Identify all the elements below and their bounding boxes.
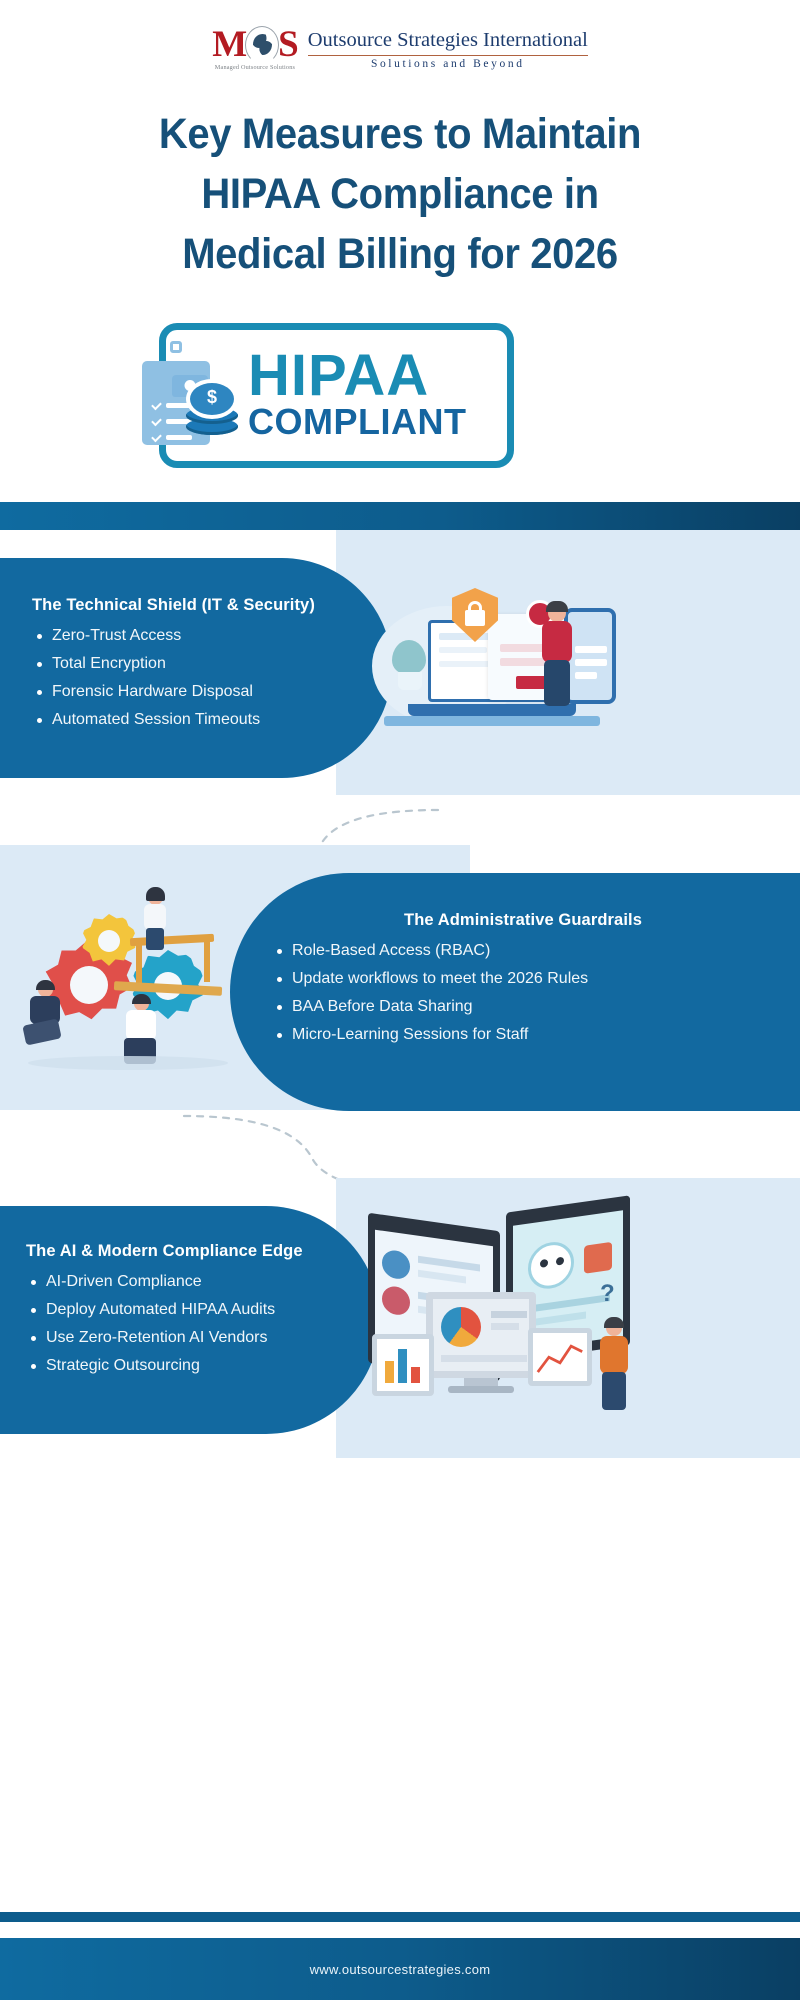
brand-tagline: Solutions and Beyond — [308, 58, 588, 70]
clipboard-ring-icon — [170, 341, 182, 353]
logo-mos-lettermark: M S — [212, 26, 298, 63]
person-legs — [22, 1018, 61, 1045]
person-torso — [600, 1336, 628, 1374]
section-3-panel: The AI & Modern Compliance Edge AI-Drive… — [0, 1206, 380, 1434]
badge-text-block: HIPAA COMPLIANT — [248, 350, 466, 442]
person-legs — [602, 1372, 626, 1410]
badge-word-hipaa: HIPAA — [248, 350, 466, 402]
logo-letter-m: M — [212, 26, 246, 63]
section-2-list: Role-Based Access (RBAC) Update workflow… — [272, 937, 772, 1049]
list-item: Role-Based Access (RBAC) — [272, 937, 772, 965]
page-footer: www.outsourcestrategies.com — [0, 1938, 800, 2000]
clipboard-line — [166, 435, 192, 440]
list-item: Update workflows to meet the 2026 Rules — [272, 965, 772, 993]
person-hair — [146, 887, 165, 901]
person-legs — [146, 928, 164, 950]
section-1-heading: The Technical Shield (IT & Security) — [32, 596, 392, 615]
bar — [398, 1349, 407, 1383]
dollar-coins-icon — [186, 379, 238, 435]
footer-website-url[interactable]: www.outsourcestrategies.com — [310, 1962, 491, 1977]
person-figure — [22, 982, 70, 1044]
person-figure — [138, 888, 172, 948]
list-item: AI-Driven Compliance — [26, 1268, 380, 1296]
bar — [411, 1367, 420, 1383]
list-item: Deploy Automated HIPAA Audits — [26, 1296, 380, 1324]
screen-bar — [491, 1311, 527, 1318]
question-mark-icon: ? — [600, 1280, 615, 1308]
bar — [385, 1361, 394, 1383]
list-item: Total Encryption — [32, 650, 392, 678]
coin-top-dollar — [186, 379, 238, 419]
person-hair — [36, 980, 55, 990]
person-coat — [126, 1010, 156, 1040]
infographic-page: M S Managed Outsource Solutions Outsourc… — [0, 0, 800, 2000]
footer-top-strip — [0, 1912, 800, 1922]
person-figure — [538, 604, 578, 716]
ramp-post — [204, 938, 210, 982]
plant-pot — [398, 672, 422, 690]
page-title-line-2: HIPAA Compliance in — [28, 164, 772, 224]
laptop-tray — [384, 716, 600, 726]
check-icon — [151, 401, 161, 411]
section-2-panel: The Administrative Guardrails Role-Based… — [230, 873, 800, 1111]
section-3-list: AI-Driven Compliance Deploy Automated HI… — [26, 1268, 380, 1380]
brand-logo: M S Managed Outsource Solutions Outsourc… — [0, 26, 800, 71]
laptop-login-security-illustration — [368, 588, 628, 768]
person-hair — [604, 1317, 624, 1328]
brand-divider — [308, 55, 588, 56]
gears-teamwork-illustration — [18, 888, 248, 1088]
screen-bar — [439, 647, 487, 653]
line-chart-icon — [535, 1335, 585, 1379]
check-icon — [151, 417, 161, 427]
phone-bar — [575, 672, 597, 679]
section-1-panel: The Technical Shield (IT & Security) Zer… — [0, 558, 392, 778]
section-divider-banner-top — [0, 502, 800, 530]
monitor-base — [448, 1386, 514, 1393]
phone-bar — [575, 659, 607, 666]
lock-shackle — [468, 601, 482, 615]
screen-bar — [441, 1355, 527, 1362]
person-torso — [144, 904, 166, 930]
check-icon — [151, 433, 161, 443]
list-item: BAA Before Data Sharing — [272, 993, 772, 1021]
ground-shadow — [28, 1056, 228, 1070]
screen-widget — [584, 1242, 612, 1274]
gear-red-hub — [70, 966, 108, 1004]
person-hair — [132, 994, 151, 1004]
monitor-front-center — [426, 1292, 536, 1378]
section-3-heading: The AI & Modern Compliance Edge — [26, 1242, 380, 1261]
hipaa-compliant-badge: HIPAA COMPLIANT — [159, 323, 514, 468]
list-item: Forensic Hardware Disposal — [32, 678, 392, 706]
page-title: Key Measures to Maintain HIPAA Complianc… — [28, 104, 772, 284]
logo-letter-s: S — [278, 26, 298, 63]
logo-mark-subtitle: Managed Outsource Solutions — [215, 64, 295, 71]
section-1-list: Zero-Trust Access Total Encryption Foren… — [32, 622, 392, 734]
pie-chart-icon — [441, 1307, 481, 1347]
person-figure — [592, 1314, 636, 1410]
tablet-bar-chart — [372, 1334, 434, 1396]
page-title-line-1: Key Measures to Maintain — [28, 104, 772, 164]
brand-text-block: Outsource Strategies International Solut… — [308, 26, 588, 70]
globe-icon — [247, 30, 277, 60]
page-title-line-3: Medical Billing for 2026 — [28, 224, 772, 284]
phone-bar — [575, 646, 607, 653]
list-item: Use Zero-Retention AI Vendors — [26, 1324, 380, 1352]
list-item: Strategic Outsourcing — [26, 1352, 380, 1380]
plant-icon — [392, 640, 426, 674]
clipboard-checklist-icon — [128, 335, 246, 457]
tablet-line-chart — [528, 1328, 592, 1386]
list-item: Automated Session Timeouts — [32, 706, 392, 734]
person-hair — [546, 601, 568, 612]
badge-word-compliant: COMPLIANT — [248, 402, 466, 442]
multi-screen-ai-dashboard-illustration: ? — [360, 1196, 660, 1416]
company-name: Outsource Strategies International — [308, 29, 588, 52]
list-item: Zero-Trust Access — [32, 622, 392, 650]
person-torso — [542, 621, 572, 663]
monitor-stand — [464, 1378, 498, 1386]
screen-bar — [491, 1323, 519, 1330]
gear-yellow-hub — [98, 930, 120, 952]
person-legs — [544, 660, 570, 706]
logo-mark: M S Managed Outsource Solutions — [212, 26, 298, 71]
list-item: Micro-Learning Sessions for Staff — [272, 1021, 772, 1049]
section-2-heading: The Administrative Guardrails — [274, 911, 772, 930]
